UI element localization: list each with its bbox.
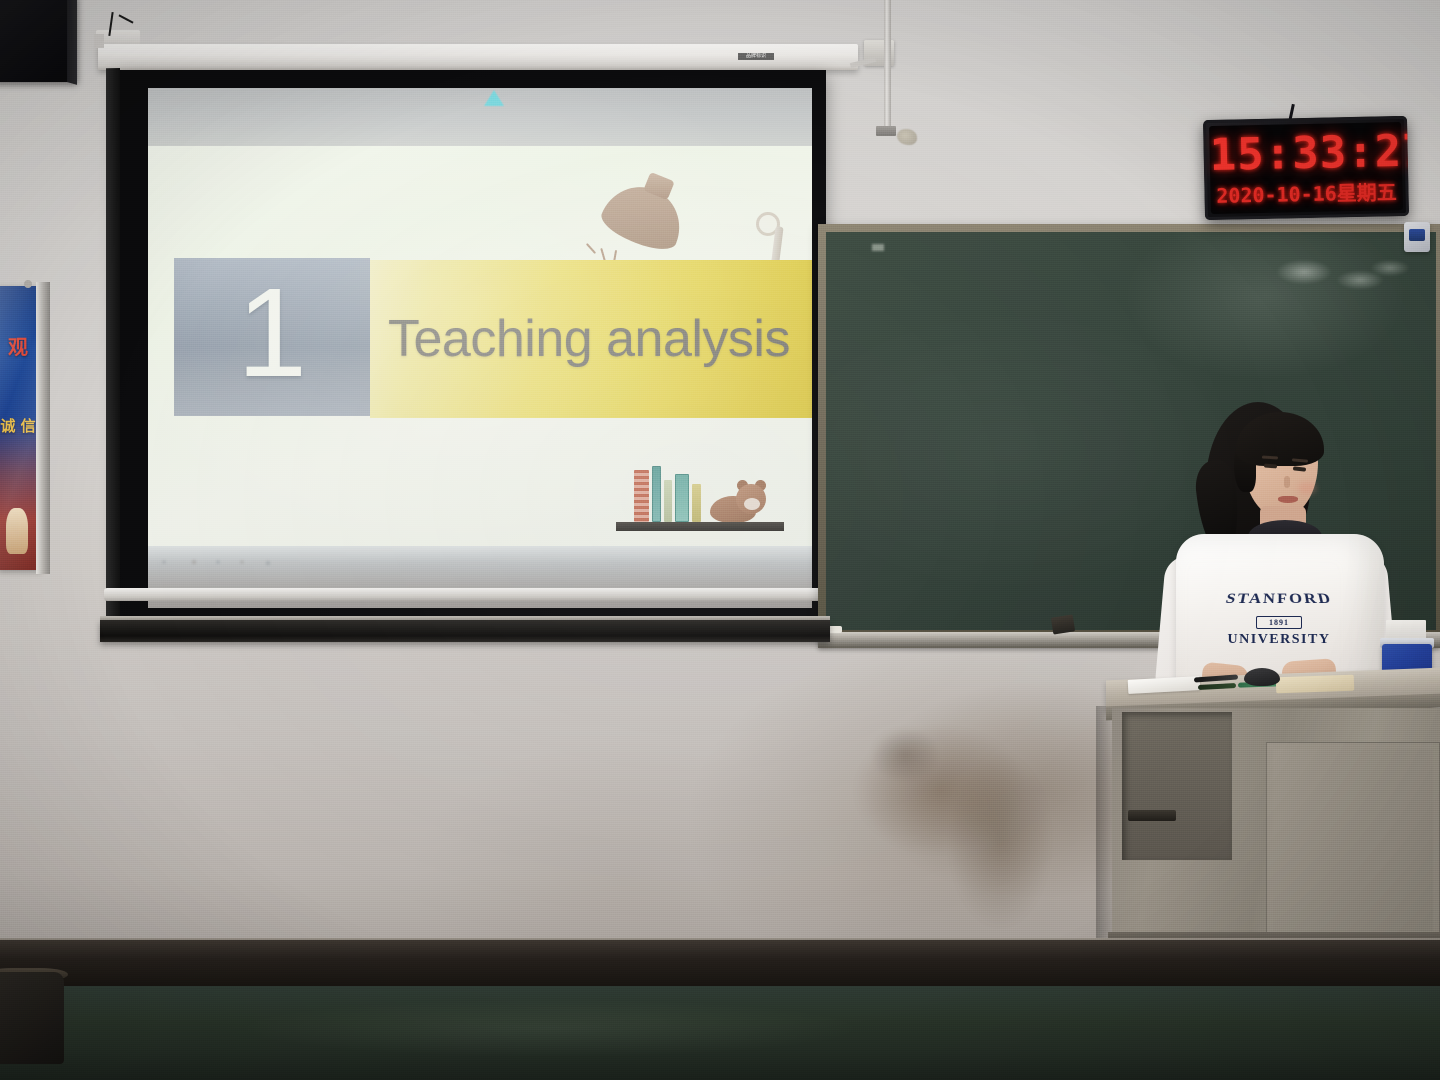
sweatshirt-brand-text: STANFORD [1213,590,1345,617]
floor-sheen [120,1000,980,1070]
wall-conduit-pipe [884,0,891,130]
housing-brand-label: 品牌标识 [738,53,774,60]
chalk-mark [872,244,884,251]
baseboard [0,940,1440,988]
book-icon-5 [692,484,701,522]
ceiling-speaker [0,0,76,82]
led-clock-display: 15:33:27 2020-10-16星期五 [1209,122,1403,214]
poster-glass-glare [0,286,40,570]
slide-title-band: Teaching analysis [370,260,812,418]
screen-ledge [100,620,830,642]
computer-mouse[interactable] [1244,668,1280,686]
poster-hook [24,280,32,288]
cheek-blush [1298,482,1316,494]
sweatshirt-subtitle-text: UNIVERSITY [1218,632,1340,648]
projector-screen-frame: 1 Teaching analysis [118,70,826,622]
slide-section-number: 1 [174,250,370,416]
conduit-foot [876,126,896,136]
mouth [1278,496,1298,503]
wall-poster: 观 诚 信 [0,286,40,570]
podium-front-panel[interactable] [1266,742,1440,938]
slide-section-number-box: 1 [174,258,370,416]
presenter-person: STANFORD 1891 UNIVERSITY [1148,398,1390,698]
taskbar-icons[interactable] [156,554,386,570]
housing-bracket-left [94,34,104,48]
projector-screen-surface[interactable]: 1 Teaching analysis [148,88,812,608]
slide-title: Teaching analysis [388,260,808,418]
chalk-smudge [1274,254,1414,306]
book-icon-3 [664,480,672,522]
wall-paint-chip [897,129,917,145]
book-icon-1 [634,470,649,522]
led-clock-date: 2020-10-16星期五 [1210,176,1403,209]
blackboard-eraser[interactable] [1051,614,1075,634]
mousepad[interactable] [1276,675,1355,694]
shelf-board-icon [616,522,784,531]
book-icon-4 [675,474,689,522]
eye-left [1264,464,1277,469]
projector-screen-bottom-bar[interactable] [104,588,840,601]
slide-top-band [148,88,812,146]
sweatshirt-logo: STANFORD 1891 UNIVERSITY [1218,588,1340,652]
wall-switch[interactable] [1404,222,1430,252]
led-clock-time: 15:33:27 [1209,126,1402,181]
led-clock: 15:33:27 2020-10-16星期五 [1203,116,1409,220]
projector-screen-housing[interactable]: 品牌标识 [98,44,858,70]
poster-frame-edge [36,282,50,574]
classroom-scene: 品牌标识 1 Teaching analysis [0,0,1440,1080]
teddy-bear-muzzle-icon [744,498,760,510]
sweatshirt-year-text: 1891 [1256,616,1302,629]
book-icon-2 [652,466,661,522]
nose [1284,476,1290,488]
podium-cable-slot [1128,810,1176,821]
cursor-triangle-icon [484,90,504,106]
podium-recess [1122,712,1232,860]
trash-bin[interactable] [0,972,64,1064]
